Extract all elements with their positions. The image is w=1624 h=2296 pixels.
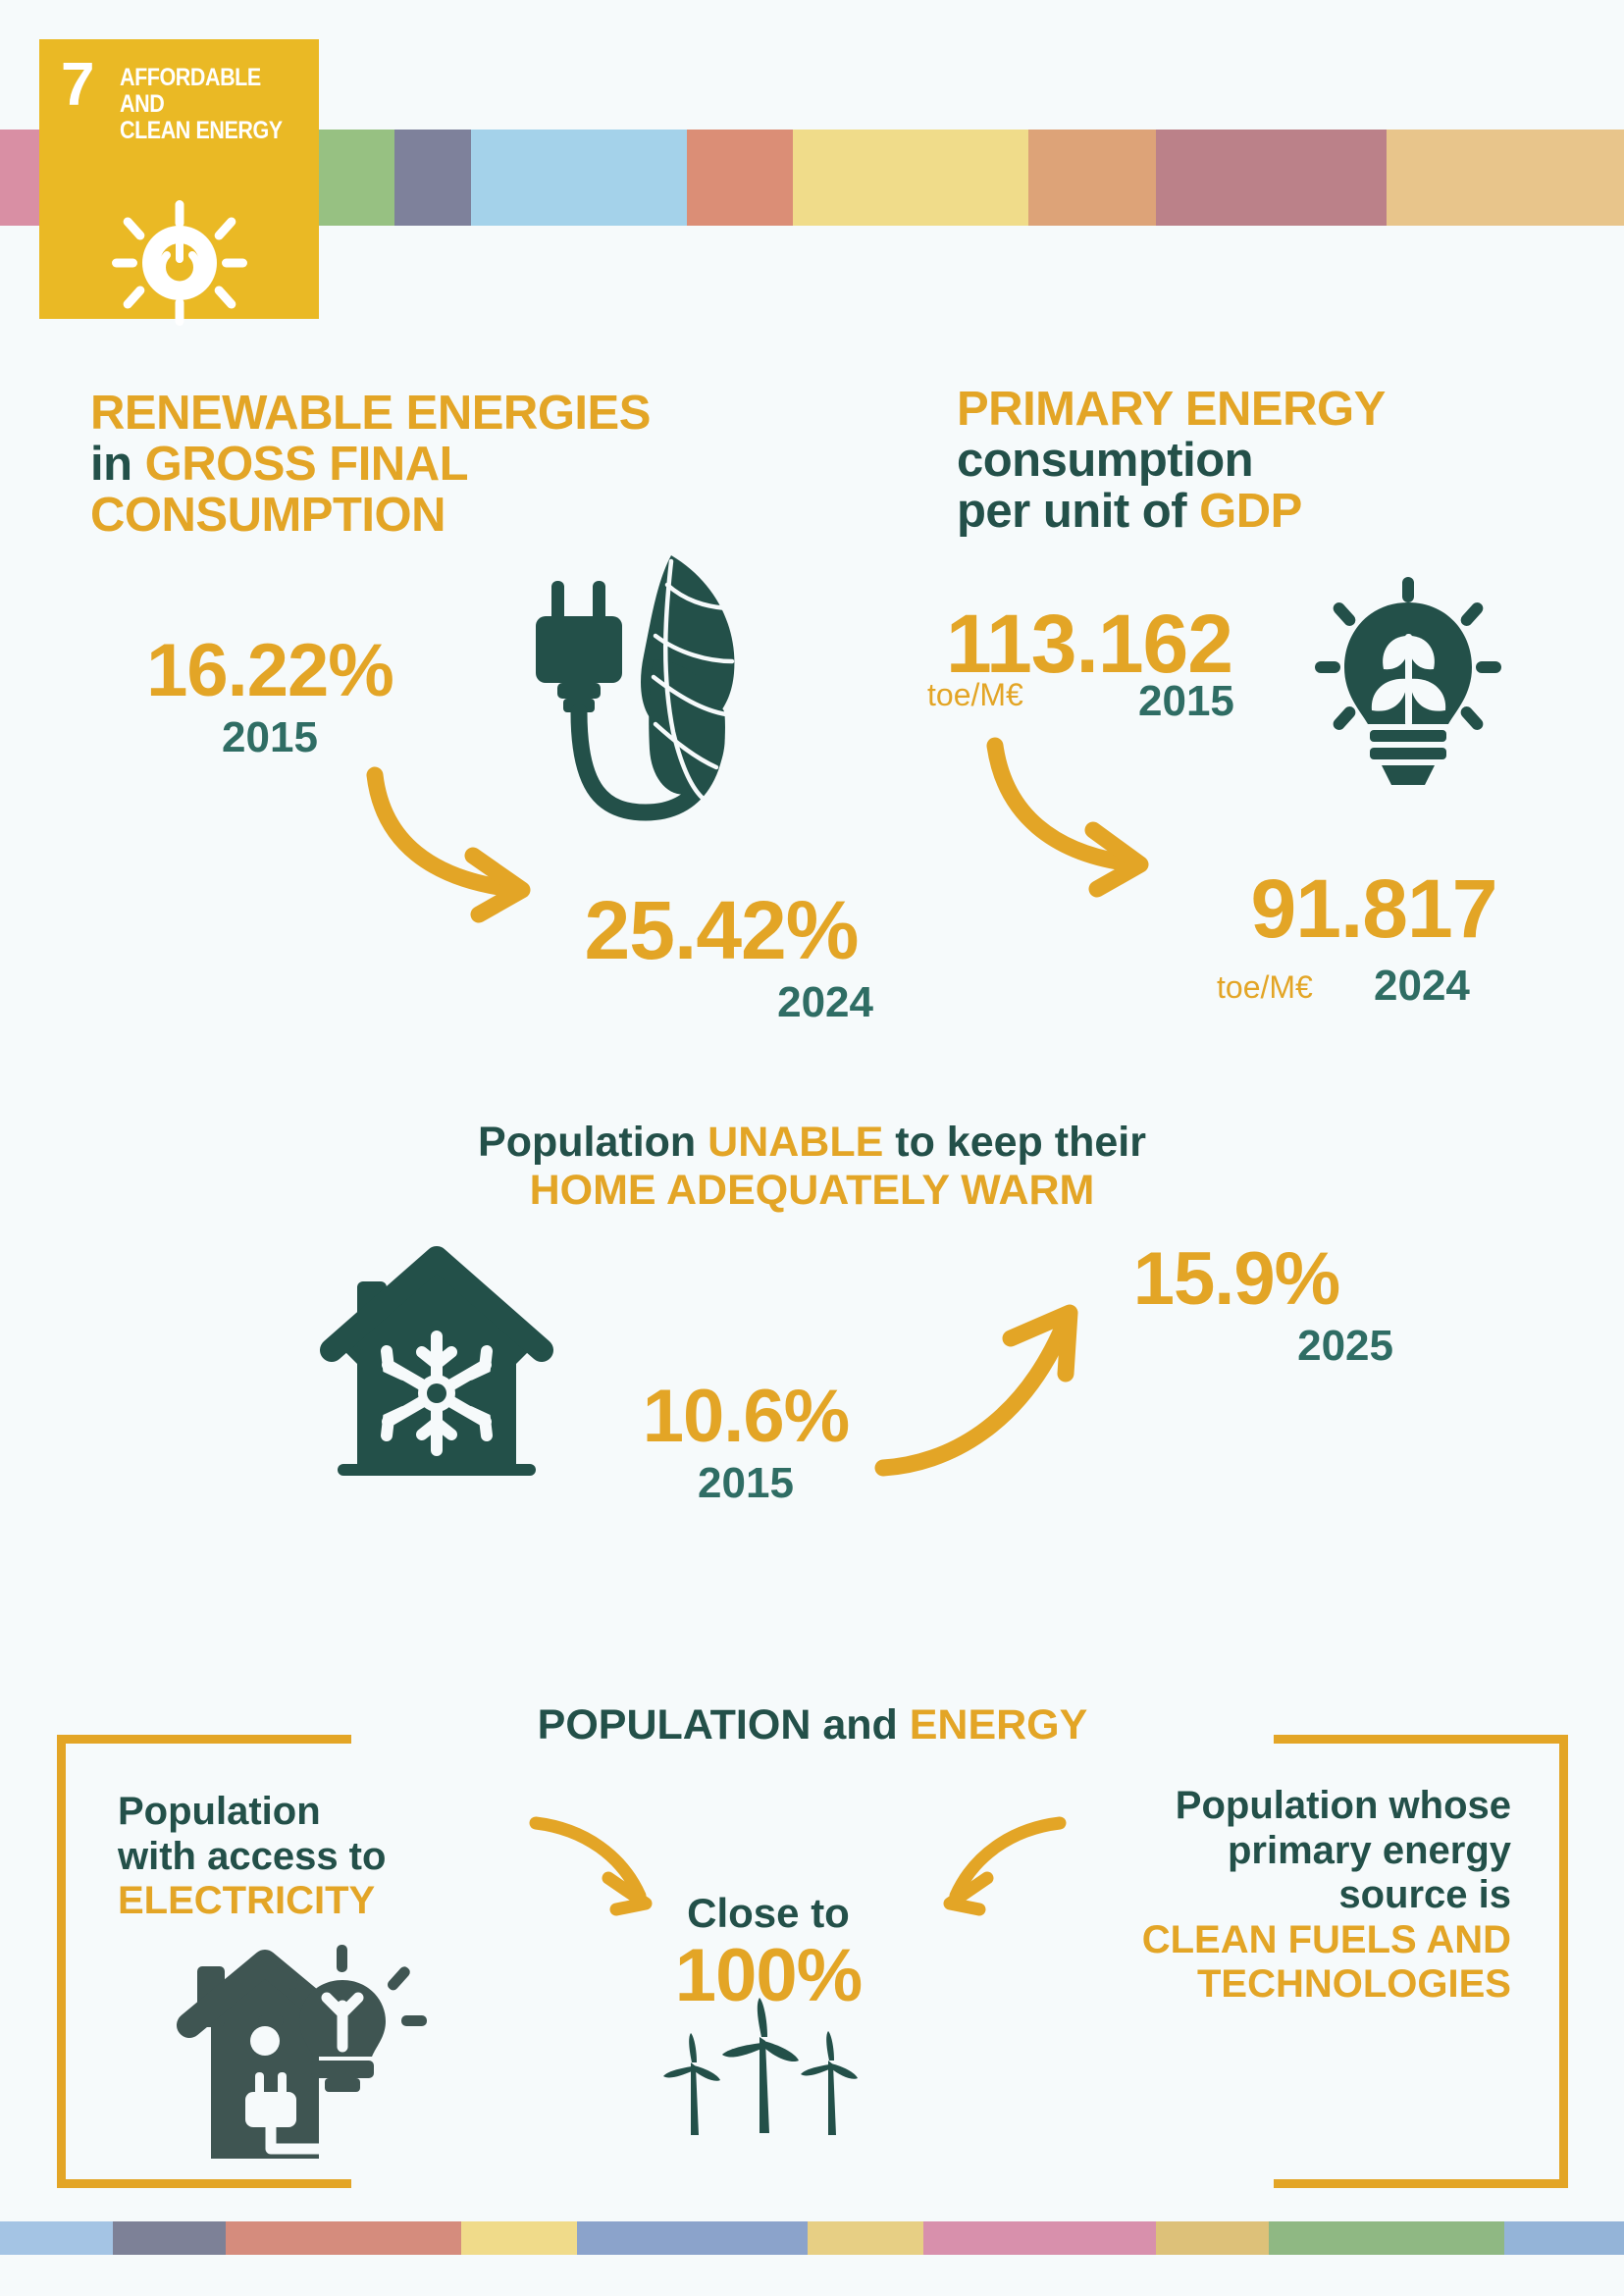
primary-energy-title-line-1: PRIMARY ENERGY <box>957 385 1506 436</box>
home-warm-end-group: 15.9% 2025 <box>1060 1236 1413 1371</box>
sun-power-icon <box>106 196 253 324</box>
renewables-start-group: 16.22% 2015 <box>108 628 432 762</box>
primary-energy-per-unit: per unit of <box>957 485 1199 538</box>
panel-arrow-left <box>528 1813 675 1921</box>
sdg-title-line-2: CLEAN ENERGY <box>120 118 291 144</box>
home-warm-end-value: 15.9% <box>1060 1236 1413 1322</box>
home-warm-title-line-1: Population UNABLE to keep their <box>0 1119 1624 1167</box>
bottom-strip-segment <box>226 2221 461 2255</box>
house-snowflake-icon <box>324 1246 550 1482</box>
renewables-start-year: 2015 <box>108 713 432 762</box>
bottom-color-strip <box>0 2221 1624 2255</box>
top-strip-segment <box>793 130 1028 226</box>
primary-energy-title: PRIMARY ENERGY consumption per unit of G… <box>957 385 1506 538</box>
bottom-strip-segment <box>923 2221 1156 2255</box>
renewables-title-line-2: in GROSS FINAL <box>90 440 758 491</box>
panel-title-population-and: POPULATION and <box>538 1701 910 1748</box>
renewables-title: RENEWABLE ENERGIES in GROSS FINAL CONSUM… <box>90 389 758 542</box>
renewables-end-group: 25.42% 2024 <box>550 883 893 1027</box>
top-strip-segment <box>308 130 394 226</box>
population-energy-panel: POPULATION and ENERGY Population with ac… <box>57 1735 1568 2188</box>
bottom-strip-segment <box>1504 2221 1624 2255</box>
plug-leaf-icon <box>506 546 761 830</box>
house-bulb-plug-icon <box>150 1935 395 2170</box>
primary-energy-start-unit: toe/M€ <box>927 677 1023 713</box>
panel-right-line-1: Population whose <box>1050 1784 1511 1829</box>
top-strip-segment <box>1387 130 1624 226</box>
top-strip-segment <box>471 130 687 226</box>
panel-title-energy: ENERGY <box>910 1701 1088 1748</box>
panel-left-line-3: ELECTRICITY <box>118 1879 510 1924</box>
panel-title: POPULATION and ENERGY <box>512 1701 1114 1749</box>
primary-energy-arrow <box>981 738 1197 895</box>
home-warm-unable: UNABLE <box>707 1119 883 1166</box>
panel-right-line-3: source is <box>1050 1873 1511 1918</box>
renewables-title-in: in <box>90 438 145 491</box>
primary-energy-end-group: 91.817 <box>1178 861 1570 957</box>
bottom-strip-segment <box>0 2221 113 2255</box>
sdg-title: AFFORDABLE AND CLEAN ENERGY <box>120 65 291 144</box>
primary-energy-end-value: 91.817 <box>1178 861 1570 957</box>
sdg-title-line-1: AFFORDABLE AND <box>120 65 291 118</box>
bottom-strip-segment <box>1156 2221 1269 2255</box>
panel-left-text: Population with access to ELECTRICITY <box>118 1790 510 1924</box>
lightbulb-plant-icon <box>1315 577 1501 793</box>
bottom-strip-segment <box>461 2221 577 2255</box>
home-warm-start-year: 2015 <box>589 1459 903 1508</box>
bottom-strip-segment <box>808 2221 923 2255</box>
panel-right-line-5: TECHNOLOGIES <box>1050 1962 1511 2008</box>
top-strip-segment <box>1028 130 1156 226</box>
bottom-strip-segment <box>113 2221 226 2255</box>
panel-right-line-4: CLEAN FUELS AND <box>1050 1918 1511 1963</box>
home-warm-population: Population <box>478 1119 707 1166</box>
home-warm-start-value: 10.6% <box>589 1374 903 1459</box>
panel-left-line-2: with access to <box>118 1835 510 1880</box>
sdg-number: 7 <box>61 57 94 115</box>
primary-energy-gdp: GDP <box>1199 485 1302 538</box>
bottom-strip-segment <box>1269 2221 1504 2255</box>
home-warm-title-line-2: HOME ADEQUATELY WARM <box>0 1167 1624 1215</box>
home-warm-title: Population UNABLE to keep their HOME ADE… <box>0 1119 1624 1214</box>
home-warm-end-year: 2025 <box>1060 1322 1413 1371</box>
primary-energy-title-line-2: consumption <box>957 436 1506 487</box>
top-strip-segment <box>1156 130 1387 226</box>
renewables-title-gross-final: GROSS FINAL <box>145 438 468 491</box>
renewables-title-line-3: CONSUMPTION <box>90 491 758 542</box>
infographic-page: 7 AFFORDABLE AND CLEAN ENERGY <box>0 0 1624 2296</box>
home-warm-start-group: 10.6% 2015 <box>589 1374 903 1508</box>
top-strip-segment <box>687 130 793 226</box>
renewables-end-year: 2024 <box>550 978 893 1027</box>
primary-energy-title-line-3: per unit of GDP <box>957 487 1506 538</box>
wind-turbines-icon <box>655 1998 881 2155</box>
renewables-end-value: 25.42% <box>550 883 893 978</box>
panel-right-line-2: primary energy <box>1050 1829 1511 1874</box>
panel-left-line-1: Population <box>118 1790 510 1835</box>
panel-arrow-right <box>920 1813 1068 1921</box>
primary-energy-end-year: 2024 <box>1374 962 1470 1011</box>
primary-energy-end-unit: toe/M€ <box>1217 969 1313 1006</box>
renewables-start-value: 16.22% <box>108 628 432 713</box>
sdg-7-badge: 7 AFFORDABLE AND CLEAN ENERGY <box>39 39 319 319</box>
primary-energy-start-year: 2015 <box>1138 677 1234 726</box>
top-strip-segment <box>394 130 471 226</box>
home-warm-keep-their: to keep their <box>883 1119 1146 1166</box>
renewables-title-line-1: RENEWABLE ENERGIES <box>90 389 758 440</box>
bottom-strip-segment <box>577 2221 808 2255</box>
panel-right-text: Population whose primary energy source i… <box>1050 1784 1511 2008</box>
